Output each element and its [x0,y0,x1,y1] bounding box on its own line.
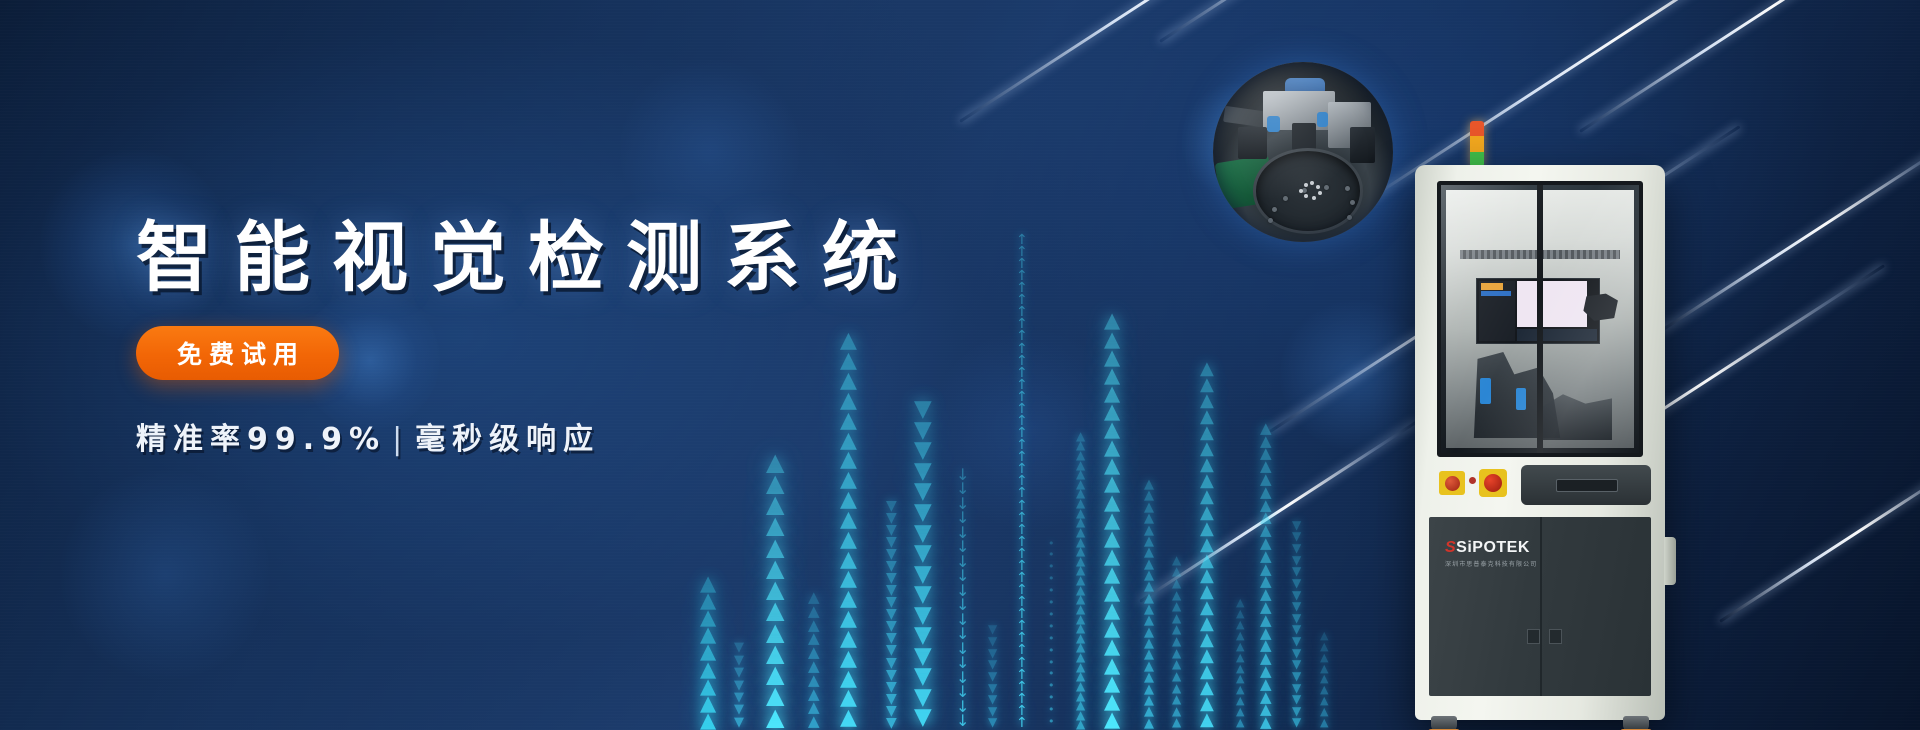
product-inset-photo [1213,62,1393,242]
chevron-glyph: ▲ [766,645,784,662]
chevron-glyph: ▲ [1104,639,1120,654]
chevron-glyph: ▲ [1200,539,1214,552]
chevron-glyph: ▲ [1260,538,1272,549]
chevron-glyph: ▲ [1260,602,1272,613]
chevron-glyph: ▲ [1076,605,1085,614]
chevron-glyph: ▲ [808,661,820,672]
chevron-glyph: ▼ [1292,695,1301,704]
window-mullion [1537,185,1543,453]
chevron-glyph: ▲ [1260,717,1272,728]
chevron-glyph: ▲ [1260,640,1272,651]
chevron-column: ▲▲▲▲▲▲▲▲▲▲▲▲▲▲▲▲▲▲▲▲▲▲▲ [1104,270,1120,730]
chevron-glyph: ▼ [1292,521,1301,530]
machine-foot [1431,716,1457,730]
chevron-glyph: ▲ [1104,476,1120,491]
chevron-glyph: ↑ [1016,621,1028,631]
chevron-glyph: ▼ [914,689,932,706]
panel-slot [1556,479,1618,492]
chevron-glyph: ▲ [700,610,716,625]
chevron-glyph: ▲ [1172,567,1181,576]
chevron-glyph: ▼ [914,483,932,500]
machine-brand-logo: SSiPOTEK 深圳市思普泰克科技有限公司 [1445,539,1537,568]
chevron-glyph: ▼ [734,668,744,677]
chevron-glyph: ▲ [1260,589,1272,600]
chevron-glyph: ▲ [1144,707,1154,716]
chevron-glyph: ▲ [1144,537,1154,546]
chevron-glyph: ↑ [1016,633,1028,643]
chevron-glyph: ↓ [956,614,969,626]
chevron-glyph: ▲ [1200,714,1214,727]
cabinet-doors[interactable]: SSiPOTEK 深圳市思普泰克科技有限公司 [1429,517,1651,696]
chevron-glyph: ▲ [1104,658,1120,673]
chevron-column: ▲▲▲▲▲▲▲▲▲ [1320,620,1328,730]
chevron-glyph: ▼ [914,525,932,542]
chevron-glyph: ▼ [886,597,897,607]
chevron-glyph: ▲ [1076,615,1085,624]
chevron-glyph: • [1048,587,1055,595]
bokeh-orb [1280,300,1430,450]
chevron-glyph: ▲ [1104,621,1120,636]
chevron-glyph: ▲ [1200,363,1214,376]
chevron-glyph: ▼ [914,668,932,685]
chevron-glyph: ▲ [1144,594,1154,603]
chevron-glyph: ▼ [988,625,997,634]
chevron-glyph: ▲ [1200,459,1214,472]
chevron-column: ↓↓↓↓↓↓↓↓↓↓↓↓↓↓↓↓↓↓ [956,440,969,730]
brand-initial: S [1445,539,1456,556]
chevron-glyph: ▼ [734,656,744,665]
chevron-glyph: ▲ [1260,679,1272,690]
chevron-glyph: ▲ [840,690,857,706]
chevron-glyph: ▼ [734,643,744,652]
chevron-glyph: ▲ [1076,441,1085,450]
turntable-bolt [1272,207,1277,212]
chevron-glyph: ▼ [886,501,897,511]
chevron-glyph: ▲ [1144,616,1154,625]
chevron-glyph: ▲ [1172,649,1181,658]
chevron-glyph: ▼ [914,627,932,644]
camera-head [1238,127,1267,159]
emergency-stop-button[interactable] [1439,471,1465,495]
chevron-glyph: ▲ [1200,650,1214,663]
chevron-glyph: • [1048,563,1055,571]
chevron-glyph: ▲ [1200,507,1214,520]
chevron-glyph: ▲ [840,532,857,548]
turntable-bolt [1324,185,1329,190]
chevron-glyph: ▼ [1292,637,1301,646]
chevron-glyph: ▲ [1260,487,1272,498]
chevron-glyph: ▲ [1076,692,1085,701]
camera-module [1480,378,1491,404]
chevron-glyph: ▲ [1320,708,1328,716]
chevron-glyph: ▲ [1076,720,1085,729]
chevron-glyph: ▲ [1236,675,1244,683]
chevron-glyph: ▼ [1292,567,1301,576]
chevron-glyph: ▲ [1076,711,1085,720]
chevron-glyph: ↓ [956,483,969,495]
chevron-glyph: ▲ [1172,660,1181,669]
chevron-glyph: ▼ [886,718,897,728]
camera-head [1292,123,1315,150]
chevron-glyph: ▼ [886,658,897,668]
tower-light-icon [1470,121,1484,167]
inspected-chip [1304,183,1308,187]
chevron-glyph: ▲ [1144,571,1154,580]
chevron-glyph: ↓ [956,585,969,597]
brand-subtitle: 深圳市思普泰克科技有限公司 [1445,559,1537,568]
chevron-glyph: ↓ [956,599,969,611]
fitting [1317,112,1328,126]
camera-module [1516,388,1526,410]
chevron-glyph: ▲ [808,620,820,631]
chevron-glyph: ▲ [1144,480,1154,489]
chevron-glyph: ↑ [1016,476,1028,486]
chevron-glyph: ▲ [1104,386,1120,401]
chevron-glyph: ▼ [914,709,932,726]
chevron-glyph: ▲ [1076,643,1085,652]
light-streak [1139,421,1417,603]
chevron-glyph: ▼ [1292,556,1301,565]
chevron-glyph: ▲ [1104,495,1120,510]
chevron-glyph: ▲ [1200,491,1214,504]
chevron-glyph: • [1048,682,1055,690]
chevron-glyph: ▲ [1172,637,1181,646]
page-title: 智能视觉检测系统 [136,220,1036,296]
light-streak [1719,457,1920,623]
chevron-glyph: ↑ [1016,670,1028,680]
chevron-glyph: ▼ [886,706,897,716]
chevron-glyph: ▲ [1144,673,1154,682]
chevron-glyph: ▲ [1320,665,1328,673]
chevron-glyph: ▲ [1076,682,1085,691]
chevron-glyph: ▲ [766,539,784,556]
chevron-glyph: ▲ [1144,526,1154,535]
chevron-glyph: ↑ [1016,488,1028,498]
chevron-glyph: ▼ [886,670,897,680]
inspected-chip [1316,185,1320,189]
chevron-glyph: ▲ [840,472,857,488]
light-streak [1159,0,1521,43]
chevron-glyph: ▲ [840,671,857,687]
chevron-glyph: ▲ [1144,628,1154,637]
chevron-glyph: ↑ [1016,537,1028,547]
chevron-glyph: • [1048,551,1055,559]
chevron-glyph: ▲ [840,631,857,647]
chevron-glyph: ▲ [1076,547,1085,556]
chevron-glyph: ▲ [1260,615,1272,626]
chevron-glyph: ▲ [766,602,784,619]
chevron-glyph: ▲ [1144,650,1154,659]
turntable-bolt [1350,200,1355,205]
bokeh-orb [60,470,270,680]
chevron-glyph: ↑ [1016,658,1028,668]
chevron-glyph: ▲ [1104,712,1120,727]
chevron-glyph: ▲ [766,581,784,598]
monitor-statusbar [1517,329,1597,341]
chevron-glyph: ▲ [1076,538,1085,547]
chevron-glyph: ▲ [1260,576,1272,587]
chevron-glyph: ▲ [1104,549,1120,564]
chevron-glyph: ▲ [1260,653,1272,664]
chevron-glyph: ▲ [766,624,784,641]
chevron-glyph: ↓ [956,556,969,568]
chevron-glyph: ▲ [1076,518,1085,527]
chevron-glyph: ▲ [1144,548,1154,557]
chevron-glyph: ▲ [1260,666,1272,677]
brand-name: SSiPOTEK [1445,539,1537,557]
chevron-glyph: ↑ [1016,549,1028,559]
chevron-glyph: ↑ [1016,573,1028,583]
chevron-glyph: ▲ [808,592,820,603]
chevron-glyph: ▼ [1292,672,1301,681]
inspected-chip [1318,191,1322,195]
chevron-glyph: • [1048,718,1055,726]
chevron-glyph: ▲ [1172,672,1181,681]
chevron-glyph: ▲ [808,675,820,686]
chevron-glyph: ▲ [1172,591,1181,600]
chevron-column: •••••••••••••••• [1048,520,1055,730]
chevron-glyph: ▲ [808,647,820,658]
chevron-glyph: ↓ [956,686,969,698]
chevron-glyph: ▼ [914,566,932,583]
chevron-glyph: ▲ [1236,665,1244,673]
chevron-glyph: ▲ [1104,585,1120,600]
chevron-column: ▲▲▲▲▲▲▲▲▲▲▲▲▲▲▲▲▲▲▲▲▲▲▲▲▲▲▲▲▲▲▲ [1076,400,1085,730]
chevron-glyph: ▲ [1076,499,1085,508]
chevron-glyph: ▲ [700,713,716,728]
chevron-glyph: ▲ [1144,696,1154,705]
chevron-glyph: ↓ [956,541,969,553]
chevron-glyph: ▲ [808,633,820,644]
chevron-glyph: ▲ [1144,582,1154,591]
chevron-glyph: ▲ [1104,567,1120,582]
chevron-glyph: ▲ [1200,475,1214,488]
chevron-glyph: ↓ [956,715,969,727]
chevron-glyph: ▲ [1260,564,1272,575]
brand-text: SiPOTEK [1456,539,1530,556]
chevron-glyph: ▲ [1200,698,1214,711]
chevron-glyph: ▲ [1144,514,1154,523]
chevron-glyph: ▲ [1104,458,1120,473]
chevron-glyph: ▲ [1104,332,1120,347]
chevron-column: ▼▼▼▼▼▼▼ [734,634,744,730]
chevron-glyph: ↑ [1016,609,1028,619]
chevron-glyph: ▼ [1292,707,1301,716]
chevron-glyph: ▲ [766,560,784,577]
door-seam [1540,517,1542,696]
monitor-viewport [1517,281,1587,327]
chevron-glyph: ▼ [1292,684,1301,693]
control-strip [1429,461,1651,511]
chevron-glyph: ▲ [1260,423,1272,434]
chevron-glyph: ▲ [700,696,716,711]
chevron-glyph: ▼ [886,645,897,655]
chevron-glyph: ▼ [734,693,744,702]
chevron-glyph: ▲ [1236,719,1244,727]
chevron-glyph: ▲ [1172,695,1181,704]
chevron-glyph: ▼ [914,463,932,480]
chevron-glyph: ▼ [886,682,897,692]
chevron-column: ▲▲▲▲▲▲▲▲▲▲▲▲ [1236,580,1244,730]
chevron-glyph: ▲ [1172,556,1181,565]
chevron-glyph: ▲ [700,576,716,591]
chevron-glyph: ▲ [1076,432,1085,441]
inspected-chip [1312,196,1316,200]
fitting [1267,116,1280,132]
chevron-glyph: ▲ [766,475,784,492]
machine-viewing-window [1437,181,1643,457]
chevron-glyph: ▼ [988,672,997,681]
chevron-glyph: ▼ [886,561,897,571]
chevron-glyph: ▲ [1076,528,1085,537]
chevron-glyph: ▲ [766,496,784,513]
chevron-column: ▼▼▼▼▼▼▼▼▼ [988,610,997,730]
chevron-glyph: ▲ [1144,639,1154,648]
chevron-glyph: ▲ [1260,525,1272,536]
chevron-glyph: ↓ [956,469,969,481]
chevron-glyph: ▲ [1236,708,1244,716]
chevron-glyph: ↓ [956,657,969,669]
chevron-glyph: ▲ [840,492,857,508]
chevron-glyph: ↑ [1016,501,1028,511]
chevron-column: ▲▲▲▲▲▲▲▲▲▲▲▲▲▲▲▲▲▲▲▲▲▲▲ [1200,335,1214,730]
chevron-glyph: ▼ [988,707,997,716]
chevron-glyph: ▲ [1104,350,1120,365]
chevron-glyph: ▲ [1200,618,1214,631]
inspected-part [1580,289,1622,325]
chevron-glyph: ▲ [1172,707,1181,716]
chevron-glyph: • [1048,670,1055,678]
chevron-glyph: ▼ [988,649,997,658]
chevron-glyph: ▲ [1144,491,1154,500]
chevron-glyph: ▼ [914,648,932,665]
chevron-glyph: ▲ [1200,427,1214,440]
chevron-glyph: ▲ [1260,704,1272,715]
chevron-glyph: ↑ [1016,464,1028,474]
chevron-glyph: ▼ [734,705,744,714]
chevron-glyph: ▲ [1076,701,1085,710]
hero-copy: 智能视觉检测系统 免费试用 精准率99.9%|毫秒级响应 [136,220,1036,458]
chevron-glyph: ▲ [1144,685,1154,694]
chevron-glyph: ▲ [1076,489,1085,498]
rotary-turntable [1253,148,1363,233]
response-feature: 毫秒级响应 [415,422,600,457]
chevron-glyph: ▲ [1236,686,1244,694]
chevron-glyph: ▲ [1076,624,1085,633]
chevron-glyph: ▲ [1236,610,1244,618]
chevron-glyph: ▼ [988,695,997,704]
chevron-glyph: ▲ [1200,395,1214,408]
chevron-glyph: ▲ [840,591,857,607]
chevron-glyph: ▲ [1076,653,1085,662]
chevron-glyph: ▲ [1200,666,1214,679]
chevron-glyph: ▲ [766,687,784,704]
chevron-glyph: ▲ [1200,570,1214,583]
chevron-glyph: ↓ [956,628,969,640]
chevron-glyph: ▲ [840,611,857,627]
chevron-glyph: ↑ [1016,525,1028,535]
chevron-glyph: ▼ [886,694,897,704]
chevron-glyph: ▲ [808,702,820,713]
chevron-glyph: ▼ [988,637,997,646]
chevron-glyph: ↓ [956,643,969,655]
chevron-glyph: ▲ [1076,557,1085,566]
chevron-glyph: ▼ [886,621,897,631]
chevron-glyph: ▲ [766,709,784,726]
inspected-chip [1304,194,1308,198]
chevron-glyph: ▲ [1320,632,1328,640]
chevron-glyph: ▲ [1260,512,1272,523]
chevron-glyph: ▼ [1292,649,1301,658]
chevron-glyph: ▲ [1076,461,1085,470]
door-handle[interactable] [1527,629,1540,644]
chevron-glyph: ▲ [1144,662,1154,671]
chevron-glyph: ▲ [840,710,857,726]
chevron-glyph: ▼ [988,718,997,727]
chevron-glyph: • [1048,635,1055,643]
chevron-glyph: ↑ [1016,513,1028,523]
chevron-glyph: ▲ [1172,579,1181,588]
door-handle[interactable] [1549,629,1562,644]
emergency-stop-button[interactable] [1479,469,1507,497]
chevron-glyph: • [1048,694,1055,702]
chevron-glyph: ▲ [808,689,820,700]
chevron-glyph: ↓ [956,512,969,524]
chevron-glyph: ↑ [1016,597,1028,607]
chevron-glyph: • [1048,599,1055,607]
chevron-glyph: ▲ [700,662,716,677]
chevron-glyph: ▲ [1320,719,1328,727]
chevron-column: ▼▼▼▼▼▼▼▼▼▼▼▼▼▼▼▼▼▼▼ [886,480,897,730]
chevron-glyph: ▲ [1320,686,1328,694]
chevron-glyph: ↑ [1016,561,1028,571]
chevron-glyph: ▲ [1260,500,1272,511]
chevron-glyph: ▼ [886,537,897,547]
chevron-glyph: ▲ [700,593,716,608]
chevron-glyph: ▲ [1320,697,1328,705]
chevron-glyph: ▲ [1144,503,1154,512]
chevron-column: ▲▲▲▲▲▲▲▲▲▲▲▲▲▲▲▲▲▲▲▲▲▲ [1144,460,1154,730]
chevron-glyph: ↑ [1016,694,1028,704]
chevron-glyph: ↓ [956,701,969,713]
chevron-glyph: ▲ [700,679,716,694]
chevron-glyph: ▲ [1104,313,1120,328]
chevron-glyph: ▼ [1292,625,1301,634]
chevron-glyph: • [1048,647,1055,655]
chevron-glyph: • [1048,623,1055,631]
chevron-glyph: ▼ [1292,579,1301,588]
turntable-bolt [1345,186,1350,191]
chevron-glyph: ▲ [1200,411,1214,424]
chevron-glyph: ▲ [1076,634,1085,643]
chevron-glyph: ▲ [1236,599,1244,607]
chevron-glyph: • [1048,706,1055,714]
chevron-column: ▲▲▲▲▲▲▲▲▲▲▲▲▲ [766,430,784,730]
chevron-glyph: ▼ [1292,532,1301,541]
free-trial-button[interactable]: 免费试用 [136,326,339,380]
chevron-glyph: ▲ [1320,675,1328,683]
chevron-glyph: ▲ [1200,602,1214,615]
chevron-glyph: ▼ [914,586,932,603]
chevron-glyph: ▲ [1104,676,1120,691]
chevron-glyph: ▲ [1260,551,1272,562]
chevron-glyph: ▼ [914,607,932,624]
chevron-glyph: ▲ [1076,470,1085,479]
chevron-glyph: ▼ [886,513,897,523]
chevron-glyph: ↑ [1016,682,1028,692]
chevron-glyph: • [1048,611,1055,619]
chevron-glyph: ▲ [840,571,857,587]
